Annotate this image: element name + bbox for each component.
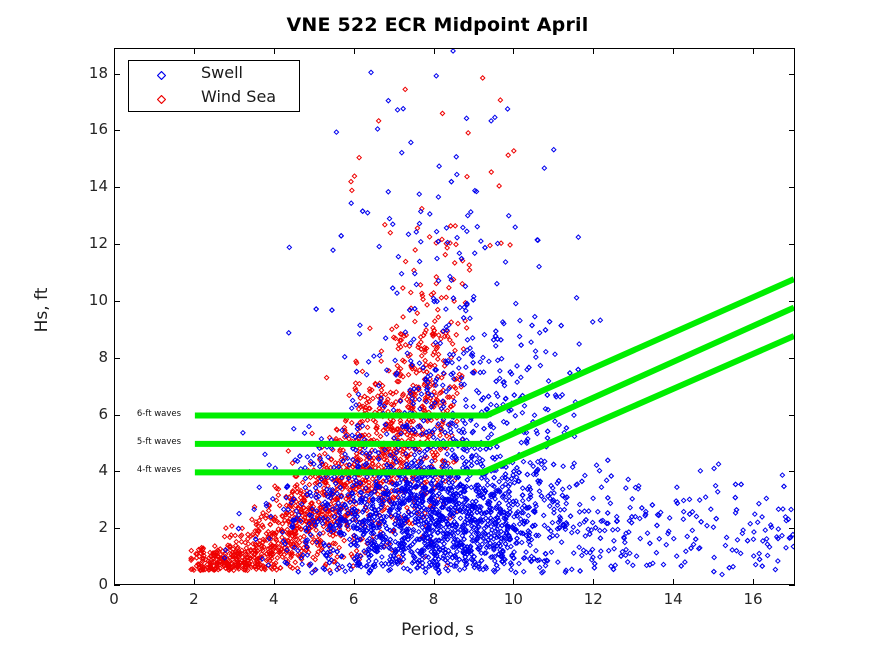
y-tick-label: 4 — [68, 461, 108, 479]
annotation-line-label: 6-ft waves — [137, 409, 181, 419]
x-tick-mark — [354, 579, 355, 585]
x-tick-mark-top — [753, 48, 754, 54]
x-tick-mark — [513, 579, 514, 585]
y-tick-mark — [114, 301, 120, 302]
x-tick-mark — [274, 579, 275, 585]
y-tick-mark-right — [789, 471, 795, 472]
y-tick-label: 2 — [68, 518, 108, 536]
y-tick-label: 6 — [68, 405, 108, 423]
y-tick-label: 14 — [68, 177, 108, 195]
y-axis-label: Hs, ft — [32, 250, 52, 370]
y-tick-mark-right — [789, 415, 795, 416]
x-axis-label: Period, s — [0, 620, 875, 640]
y-tick-mark — [114, 528, 120, 529]
y-tick-mark — [114, 358, 120, 359]
legend-label-swell: Swell — [201, 63, 243, 82]
legend: Swell Wind Sea — [128, 60, 300, 112]
plot-area — [114, 48, 795, 585]
y-tick-mark — [114, 187, 120, 188]
x-tick-mark-top — [593, 48, 594, 54]
y-tick-label: 10 — [68, 291, 108, 309]
x-tick-mark-top — [434, 48, 435, 54]
x-tick-label: 2 — [174, 590, 214, 608]
y-tick-mark — [114, 471, 120, 472]
legend-label-wind-sea: Wind Sea — [201, 87, 276, 106]
x-tick-mark — [753, 579, 754, 585]
y-tick-mark — [114, 130, 120, 131]
x-tick-mark — [673, 579, 674, 585]
y-tick-mark-right — [789, 358, 795, 359]
x-tick-mark-top — [114, 48, 115, 54]
annotation-line-label: 4-ft waves — [137, 465, 181, 475]
y-tick-mark — [114, 585, 120, 586]
y-tick-label: 8 — [68, 348, 108, 366]
y-tick-mark-right — [789, 585, 795, 586]
x-tick-label: 16 — [733, 590, 773, 608]
y-tick-label: 0 — [68, 575, 108, 593]
x-tick-label: 4 — [254, 590, 294, 608]
x-tick-mark-top — [354, 48, 355, 54]
y-tick-mark — [114, 244, 120, 245]
y-tick-mark-right — [789, 130, 795, 131]
x-tick-label: 12 — [573, 590, 613, 608]
x-tick-mark — [434, 579, 435, 585]
y-tick-mark — [114, 415, 120, 416]
y-tick-mark-right — [789, 528, 795, 529]
x-tick-mark — [593, 579, 594, 585]
y-tick-mark-right — [789, 187, 795, 188]
legend-item-wind-sea: Wind Sea — [129, 86, 301, 112]
swell-diamond-icon — [157, 71, 166, 80]
annotation-lines-layer — [115, 49, 795, 585]
x-tick-mark-top — [194, 48, 195, 54]
y-tick-mark-right — [789, 301, 795, 302]
x-tick-mark-top — [274, 48, 275, 54]
x-tick-label: 14 — [653, 590, 693, 608]
x-tick-mark-top — [513, 48, 514, 54]
x-tick-label: 10 — [493, 590, 533, 608]
x-tick-mark-top — [673, 48, 674, 54]
y-tick-mark — [114, 74, 120, 75]
x-tick-mark — [194, 579, 195, 585]
x-tick-label: 8 — [414, 590, 454, 608]
annotation-line-label: 5-ft waves — [137, 437, 181, 447]
legend-item-swell: Swell — [129, 62, 301, 88]
figure-canvas: VNE 522 ECR Midpoint April 0246810121416… — [0, 0, 875, 656]
y-tick-mark-right — [789, 244, 795, 245]
y-tick-label: 12 — [68, 234, 108, 252]
x-tick-label: 6 — [334, 590, 374, 608]
y-tick-label: 16 — [68, 120, 108, 138]
annotation-line — [195, 336, 794, 472]
wind-sea-diamond-icon — [157, 95, 166, 104]
y-tick-mark-right — [789, 74, 795, 75]
page-title: VNE 522 ECR Midpoint April — [0, 14, 875, 36]
y-tick-label: 18 — [68, 64, 108, 82]
